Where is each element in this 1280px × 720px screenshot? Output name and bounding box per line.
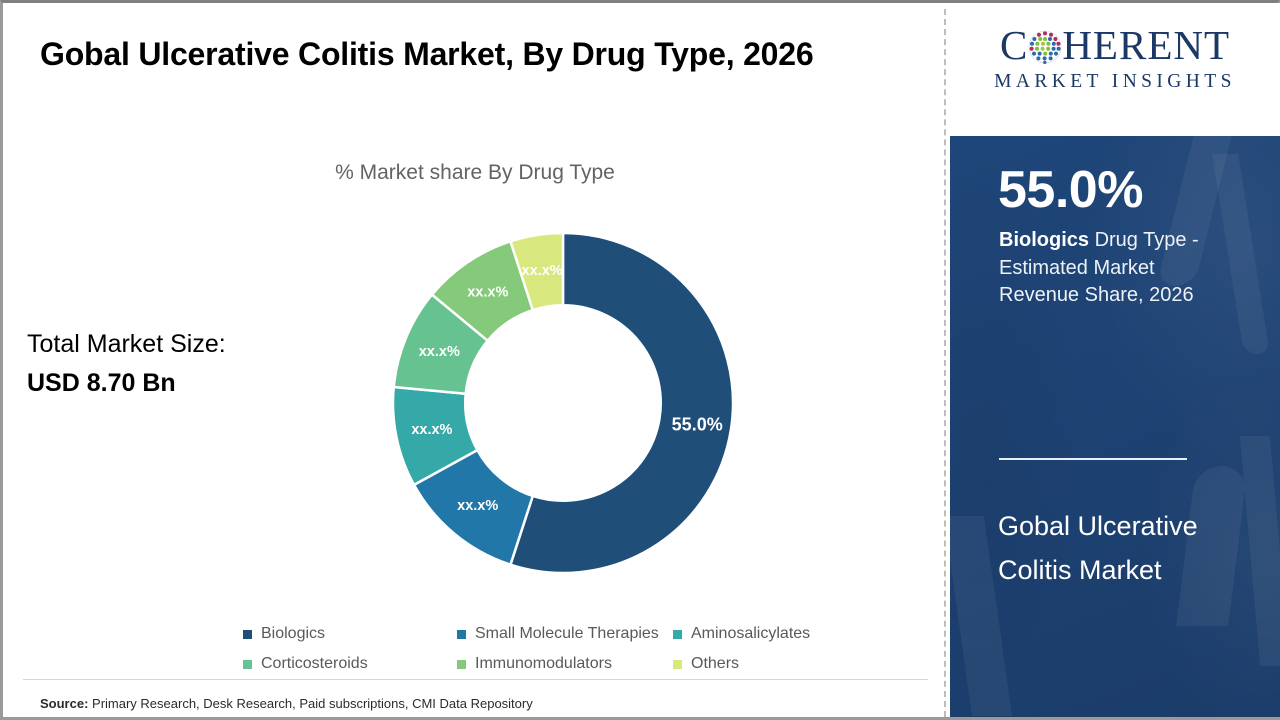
panel-divider: [944, 9, 946, 717]
total-market-size-label: Total Market Size:: [27, 325, 327, 364]
donut-slices: [393, 233, 733, 573]
chart-subtitle: % Market share By Drug Type: [3, 161, 947, 185]
brand-name-rest: HERENT: [1062, 22, 1230, 68]
source-prefix: Source:: [40, 696, 88, 711]
legend-label: Others: [691, 655, 739, 673]
highlight-panel: 55.0% Biologics Drug Type - Estimated Ma…: [950, 136, 1280, 717]
legend-label: Biologics: [261, 625, 325, 643]
donut-slice-label: xx.x%: [522, 263, 563, 279]
legend-item-biologics[interactable]: Biologics: [243, 625, 457, 643]
stat-description-emphasis: Biologics: [999, 229, 1089, 251]
legend-item-aminosalicylates[interactable]: Aminosalicylates: [673, 625, 810, 643]
legend-label: Small Molecule Therapies: [475, 625, 659, 643]
brand-name-c: C: [1000, 22, 1028, 68]
stat-value: 55.0%: [998, 164, 1143, 216]
infographic-root: Gobal Ulcerative Colitis Market, By Drug…: [0, 0, 1280, 720]
panel-subject: Gobal Ulcerative Colitis Market: [998, 504, 1248, 592]
donut-slice-label: xx.x%: [467, 284, 508, 300]
donut-chart: 55.0%xx.x%xx.x%xx.x%xx.x%xx.x%: [392, 232, 734, 574]
legend-swatch-icon: [243, 630, 252, 639]
legend-item-others[interactable]: Others: [673, 655, 739, 673]
legend-swatch-icon: [673, 660, 682, 669]
source-note: Source: Primary Research, Desk Research,…: [40, 696, 533, 711]
total-market-size-value: USD 8.70 Bn: [27, 364, 327, 403]
donut-slice-label: 55.0%: [672, 414, 723, 434]
source-divider: [23, 679, 928, 680]
chart-legend: Biologics Small Molecule Therapies Amino…: [243, 619, 863, 679]
legend-swatch-icon: [457, 630, 466, 639]
globe-icon: [1028, 30, 1062, 64]
legend-swatch-icon: [457, 660, 466, 669]
donut-slice-label: xx.x%: [411, 422, 452, 438]
brand-tagline: MARKET INSIGHTS: [965, 71, 1265, 93]
left-panel: Gobal Ulcerative Colitis Market, By Drug…: [3, 3, 947, 717]
panel-divider-rule: [999, 458, 1187, 460]
donut-slice-label: xx.x%: [419, 344, 460, 360]
total-market-size: Total Market Size: USD 8.70 Bn: [27, 325, 327, 403]
stat-description: Biologics Drug Type - Estimated Market R…: [999, 227, 1229, 310]
legend-item-corticosteroids[interactable]: Corticosteroids: [243, 655, 457, 673]
legend-swatch-icon: [243, 660, 252, 669]
donut-slice-label: xx.x%: [457, 498, 498, 514]
legend-label: Immunomodulators: [475, 655, 612, 673]
source-text: Primary Research, Desk Research, Paid su…: [88, 696, 532, 711]
donut-chart-svg: 55.0%xx.x%xx.x%xx.x%xx.x%xx.x%: [392, 232, 734, 574]
legend-item-small-molecule-therapies[interactable]: Small Molecule Therapies: [457, 625, 673, 643]
legend-swatch-icon: [673, 630, 682, 639]
brand-name: CHERENT: [965, 25, 1265, 66]
legend-row: Corticosteroids Immunomodulators Others: [243, 649, 863, 679]
right-panel: CHERENT MARKET INSIGHTS 55.0% Biologics …: [950, 3, 1280, 717]
legend-row: Biologics Small Molecule Therapies Amino…: [243, 619, 863, 649]
page-title: Gobal Ulcerative Colitis Market, By Drug…: [40, 30, 890, 80]
legend-label: Corticosteroids: [261, 655, 368, 673]
brand-logo: CHERENT MARKET INSIGHTS: [950, 3, 1280, 136]
legend-label: Aminosalicylates: [691, 625, 810, 643]
legend-item-immunomodulators[interactable]: Immunomodulators: [457, 655, 673, 673]
